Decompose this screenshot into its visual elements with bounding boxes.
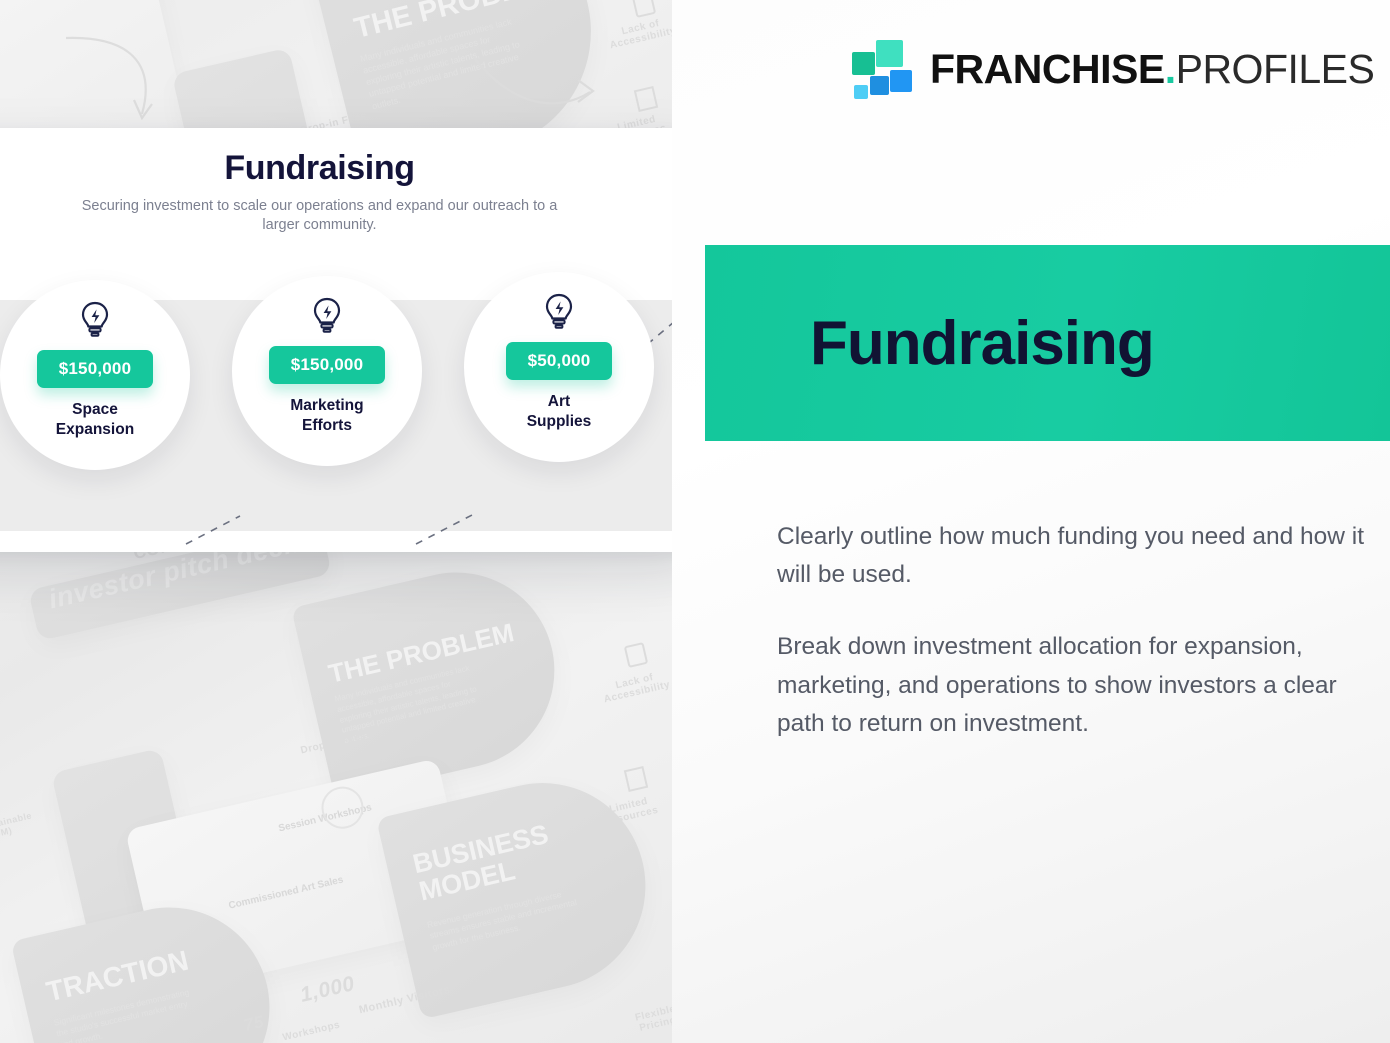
allocation-label: Art Supplies [527, 392, 592, 432]
lightbulb-bolt-icon [311, 296, 343, 334]
allocation-node[interactable]: $150,000 Marketing Efforts [232, 276, 422, 466]
body-paragraph-1: Clearly outline how much funding you nee… [777, 518, 1367, 594]
section-banner: Fundraising [705, 245, 1390, 441]
page-title: Fundraising [810, 308, 1154, 379]
logo-text-thin: PROFILES [1176, 46, 1375, 92]
allocation-node[interactable]: $50,000 Art Supplies [464, 272, 654, 462]
lightbulb-bolt-icon [543, 292, 575, 330]
brand-logo: FRANCHISE.PROFILES [850, 38, 1374, 100]
allocation-node[interactable]: $150,000 Space Expansion [0, 280, 190, 470]
deck-stat-workshops-label: Workshops [282, 1020, 342, 1043]
deck-label-som: Obtainable (SOM) [0, 810, 35, 841]
deck-heading: BUSINESS MODEL [410, 821, 557, 906]
deck-label-accessibility-2: Lack of Accessibility [600, 669, 671, 706]
deck-label-accessibility: Lack of Accessibility [606, 15, 672, 52]
deck-label-artsales: Commissioned Art Sales [228, 874, 345, 911]
logo-wordmark: FRANCHISE.PROFILES [930, 49, 1374, 90]
deck-label-pricing: Flexible Pricing [634, 1004, 672, 1035]
logo-text-bold: FRANCHISE [930, 46, 1165, 92]
lightbulb-bolt-icon [79, 300, 111, 338]
allocation-amount: $50,000 [506, 342, 613, 380]
deck-stat-visitors-value: 1,000 [298, 972, 357, 1008]
fundraising-card: Fundraising Securing investment to scale… [0, 128, 703, 552]
allocation-nodes: $150,000 Space Expansion $150,000 Market… [0, 128, 703, 552]
allocation-amount: $150,000 [37, 350, 154, 388]
deck-body: ces in urban and t is substantial [0, 16, 95, 87]
body-paragraph-2: Break down investment allocation for exp… [777, 628, 1367, 743]
right-content-panel: FRANCHISE.PROFILES Fundraising Clearly o… [672, 0, 1390, 1043]
dollar-circle-icon [317, 782, 367, 832]
logo-text-dot: . [1165, 46, 1176, 92]
document-icon [624, 642, 648, 668]
document-icon [632, 0, 656, 18]
body-copy: Clearly outline how much funding you nee… [777, 518, 1367, 743]
logo-mark-icon [850, 38, 912, 100]
hourglass-icon [624, 766, 648, 792]
allocation-amount: $150,000 [269, 346, 386, 384]
allocation-label: Marketing Efforts [290, 396, 363, 436]
allocation-label: Space Expansion [56, 400, 134, 440]
hourglass-icon [634, 86, 658, 112]
